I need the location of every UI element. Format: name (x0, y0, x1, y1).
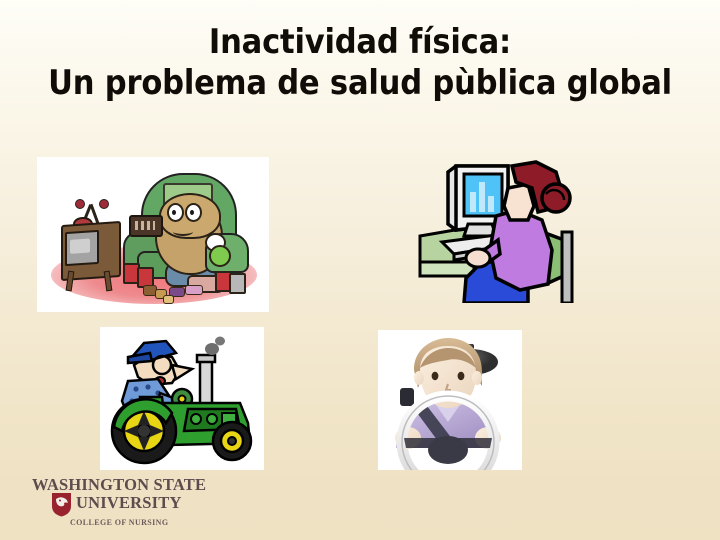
image-car-driver (378, 330, 522, 470)
car-driver-artwork (378, 330, 522, 470)
title-line-1: Inactividad física: (0, 22, 720, 63)
tv-screen-shape (65, 230, 99, 266)
woman-at-computer-artwork (412, 158, 602, 303)
wsu-logo: WASHINGTON STATE UNIVERSITY COLLEGE OF N… (26, 475, 226, 527)
image-couch-potato (37, 157, 269, 312)
tractor-artwork (100, 327, 264, 470)
potato-mouth-shape (173, 227, 193, 236)
page-title: Inactividad física: Un problema de salud… (0, 22, 720, 105)
tv-antenna-tip-left (75, 199, 85, 209)
tv-antenna-tip-right (99, 199, 109, 209)
image-farmer-on-tractor (100, 327, 264, 470)
cougar-shield-icon (51, 492, 72, 517)
tv-remote-shape (129, 215, 163, 237)
potato-left-eye-shape (167, 203, 184, 222)
snack-wrapper-5 (163, 295, 174, 304)
wsu-logo-line-3: COLLEGE OF NURSING (70, 518, 168, 527)
snack-wrapper-4 (185, 285, 203, 295)
title-line-2: Un problema de salud pùblica global (0, 63, 720, 104)
green-snack-shape (209, 245, 231, 267)
slide-canvas: Inactividad física: Un problema de salud… (0, 0, 720, 540)
image-woman-at-computer (412, 158, 602, 303)
soda-can-4 (229, 273, 246, 294)
potato-right-eye-shape (185, 203, 202, 222)
wsu-logo-line-2: UNIVERSITY (76, 493, 182, 513)
couch-potato-artwork (37, 157, 269, 312)
